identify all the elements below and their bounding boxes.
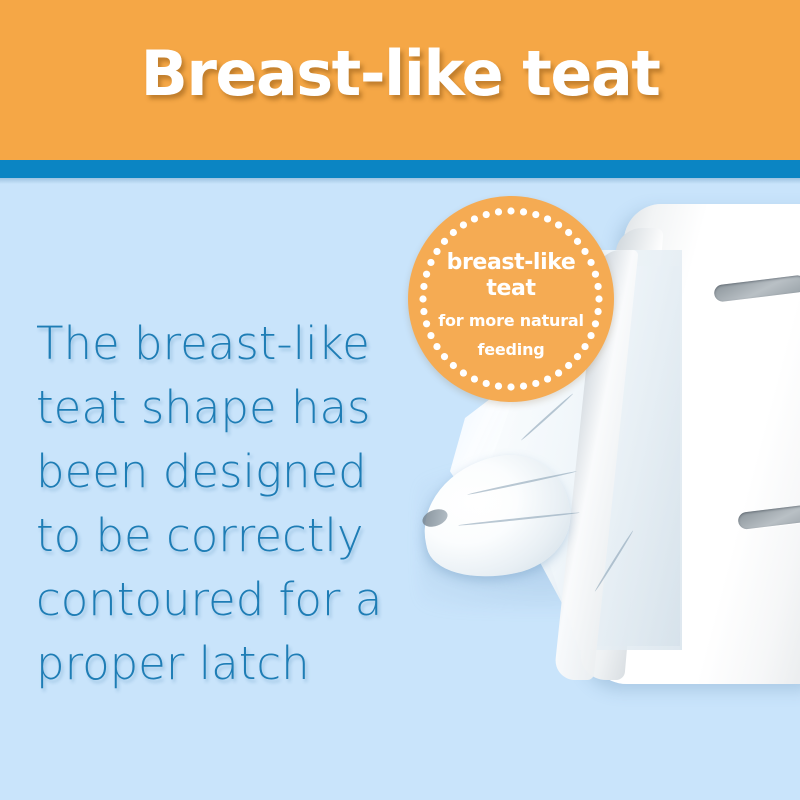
badge-subtitle-line-1: for more natural [408,311,614,331]
badge-text-block: breast-like teat for more natural feedin… [408,250,614,360]
badge-title-line-1: breast-like [408,250,614,276]
body-copy-line: to be correctly [36,504,416,568]
body-copy-line: contoured for a [36,568,416,632]
poster-canvas: Breast-like teat breast-like teat for mo… [0,0,800,800]
breast-like-teat-badge: breast-like teat for more natural feedin… [408,196,614,402]
body-copy-line: proper latch [36,632,416,696]
header-band: Breast-like teat [0,0,800,160]
header-divider-shadow [0,178,800,184]
header-divider-stripe [0,160,800,178]
badge-subtitle-line-2: feeding [408,340,614,360]
body-copy-line: been designed [36,440,416,504]
body-copy-line: teat shape has [36,376,416,440]
body-copy: The breast-like teat shape has been desi… [36,312,416,696]
page-title: Breast-like teat [0,36,800,112]
badge-title-line-2: teat [408,276,614,302]
body-copy-line: The breast-like [36,312,416,376]
